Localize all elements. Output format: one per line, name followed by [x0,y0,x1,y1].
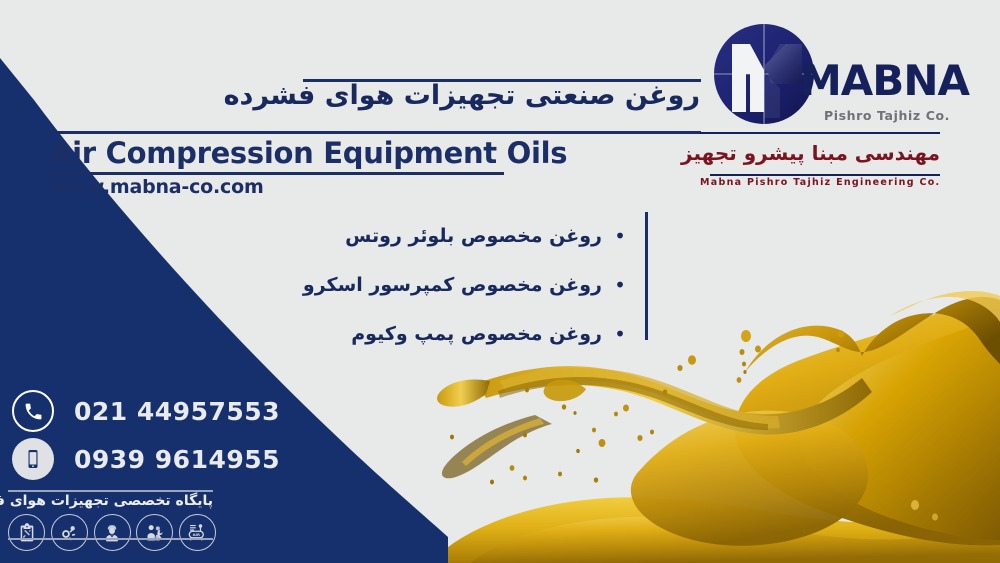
phone-handset-icon [12,390,54,432]
logo-name-fa-en: Mabna Pishro Tajhiz Engineering Co. [700,177,940,188]
headline-rule-middle [46,131,701,134]
clipboard-tools-icon[interactable] [8,514,45,551]
phone-number: 021 44957553 [74,397,280,426]
page-title-fa: روغن صنعتی تجهیزات هوای فشرده [280,82,700,109]
gear-pulley-icon[interactable] [51,514,88,551]
company-logo[interactable]: MABNA Pishro Tajhiz Co. مهندسی مبنا پیشر… [700,22,950,190]
air-compressor-icon[interactable]: AIR [179,514,216,551]
page-title-en: Air Compression Equipment Oils [50,136,567,170]
phone-row[interactable]: 021 44957553 [12,390,280,432]
technician-person-icon[interactable] [94,514,131,551]
bullet-list-divider [645,212,648,340]
list-item-label: روغن مخصوص کمپرسور اسکرو [303,274,610,296]
headline-rule-bottom [46,172,504,175]
logo-rule-bottom [710,174,940,176]
tagline-text: پایگاه تخصصی تجهیزات هوای فشرده [8,493,213,509]
mobile-number: 0939 9614955 [74,445,280,474]
mobile-row[interactable]: 0939 9614955 [12,438,280,480]
bullet-dot-icon: • [610,275,630,295]
mobile-phone-icon [12,438,54,480]
logo-wordmark: MABNA [800,60,969,102]
logo-name-fa: مهندسی مبنا پیشرو تجهیز [700,134,940,172]
contact-block: 021 44957553 0939 9614955 پایگاه تخصصی ت… [0,380,260,563]
tagline-rule-top [8,490,213,492]
product-list: • روغن مخصوص بلوئر روتس • روغن مخصوص کمپ… [330,208,630,358]
website-url[interactable]: www.mabna-co.com [52,176,264,198]
svg-text:AIR: AIR [193,532,200,537]
bullet-dot-icon: • [610,324,630,344]
service-icon-row: AIR [8,514,216,551]
logo-subtitle: Pishro Tajhiz Co. [808,108,950,123]
list-item[interactable]: • روغن مخصوص بلوئر روتس [330,212,630,260]
list-item[interactable]: • روغن مخصوص پمپ وکیوم [330,310,630,358]
banner-canvas: روغن صنعتی تجهیزات هوای فشرده Air Compre… [0,0,1000,563]
list-item-label: روغن مخصوص بلوئر روتس [330,225,610,247]
tagline-rule-bottom [8,538,213,540]
list-item[interactable]: • روغن مخصوص کمپرسور اسکرو [330,261,630,309]
list-item-label: روغن مخصوص پمپ وکیوم [330,323,610,345]
worker-wrench-icon[interactable] [136,514,173,551]
bullet-dot-icon: • [610,226,630,246]
